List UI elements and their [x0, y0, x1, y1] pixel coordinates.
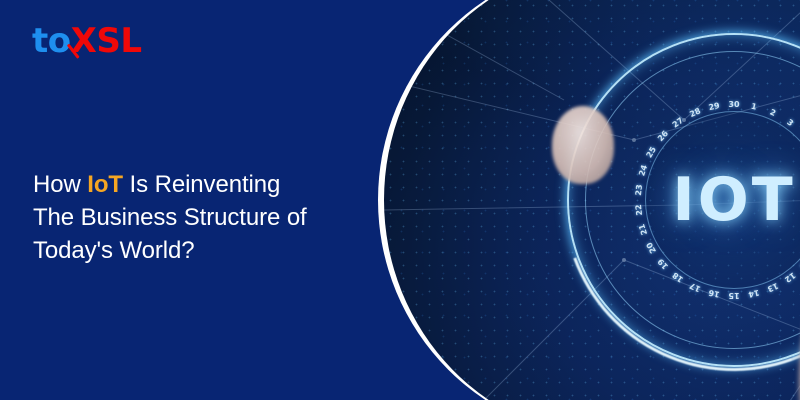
- hero-image-curved-mask: 1234567891011121314151617181920212223242…: [378, 0, 800, 400]
- headline-line1-after: Is Reinventing: [123, 171, 280, 198]
- toxsl-logo[interactable]: to XSL: [32, 20, 142, 62]
- headline-highlight-iot: IoT: [87, 171, 123, 198]
- blog-banner: to XSL How IoT Is Reinventing The Busine…: [0, 0, 800, 400]
- hero-image-content: 1234567891011121314151617181920212223242…: [384, 0, 800, 400]
- logo-xsl-letters: XSL: [71, 21, 142, 61]
- logo-text-xsl: XSL: [71, 24, 142, 58]
- logo-text-to: to: [32, 24, 71, 58]
- hero-image: 1234567891011121314151617181920212223242…: [378, 0, 800, 400]
- headline-line1-before: How: [33, 171, 87, 198]
- headline-line-2: The Business Structure of: [33, 201, 363, 234]
- headline-line-1: How IoT Is Reinventing: [33, 168, 363, 201]
- headline-line-3: Today's World?: [33, 234, 363, 267]
- blue-haze-overlay: [384, 0, 800, 400]
- page-title: How IoT Is Reinventing The Business Stru…: [33, 168, 363, 267]
